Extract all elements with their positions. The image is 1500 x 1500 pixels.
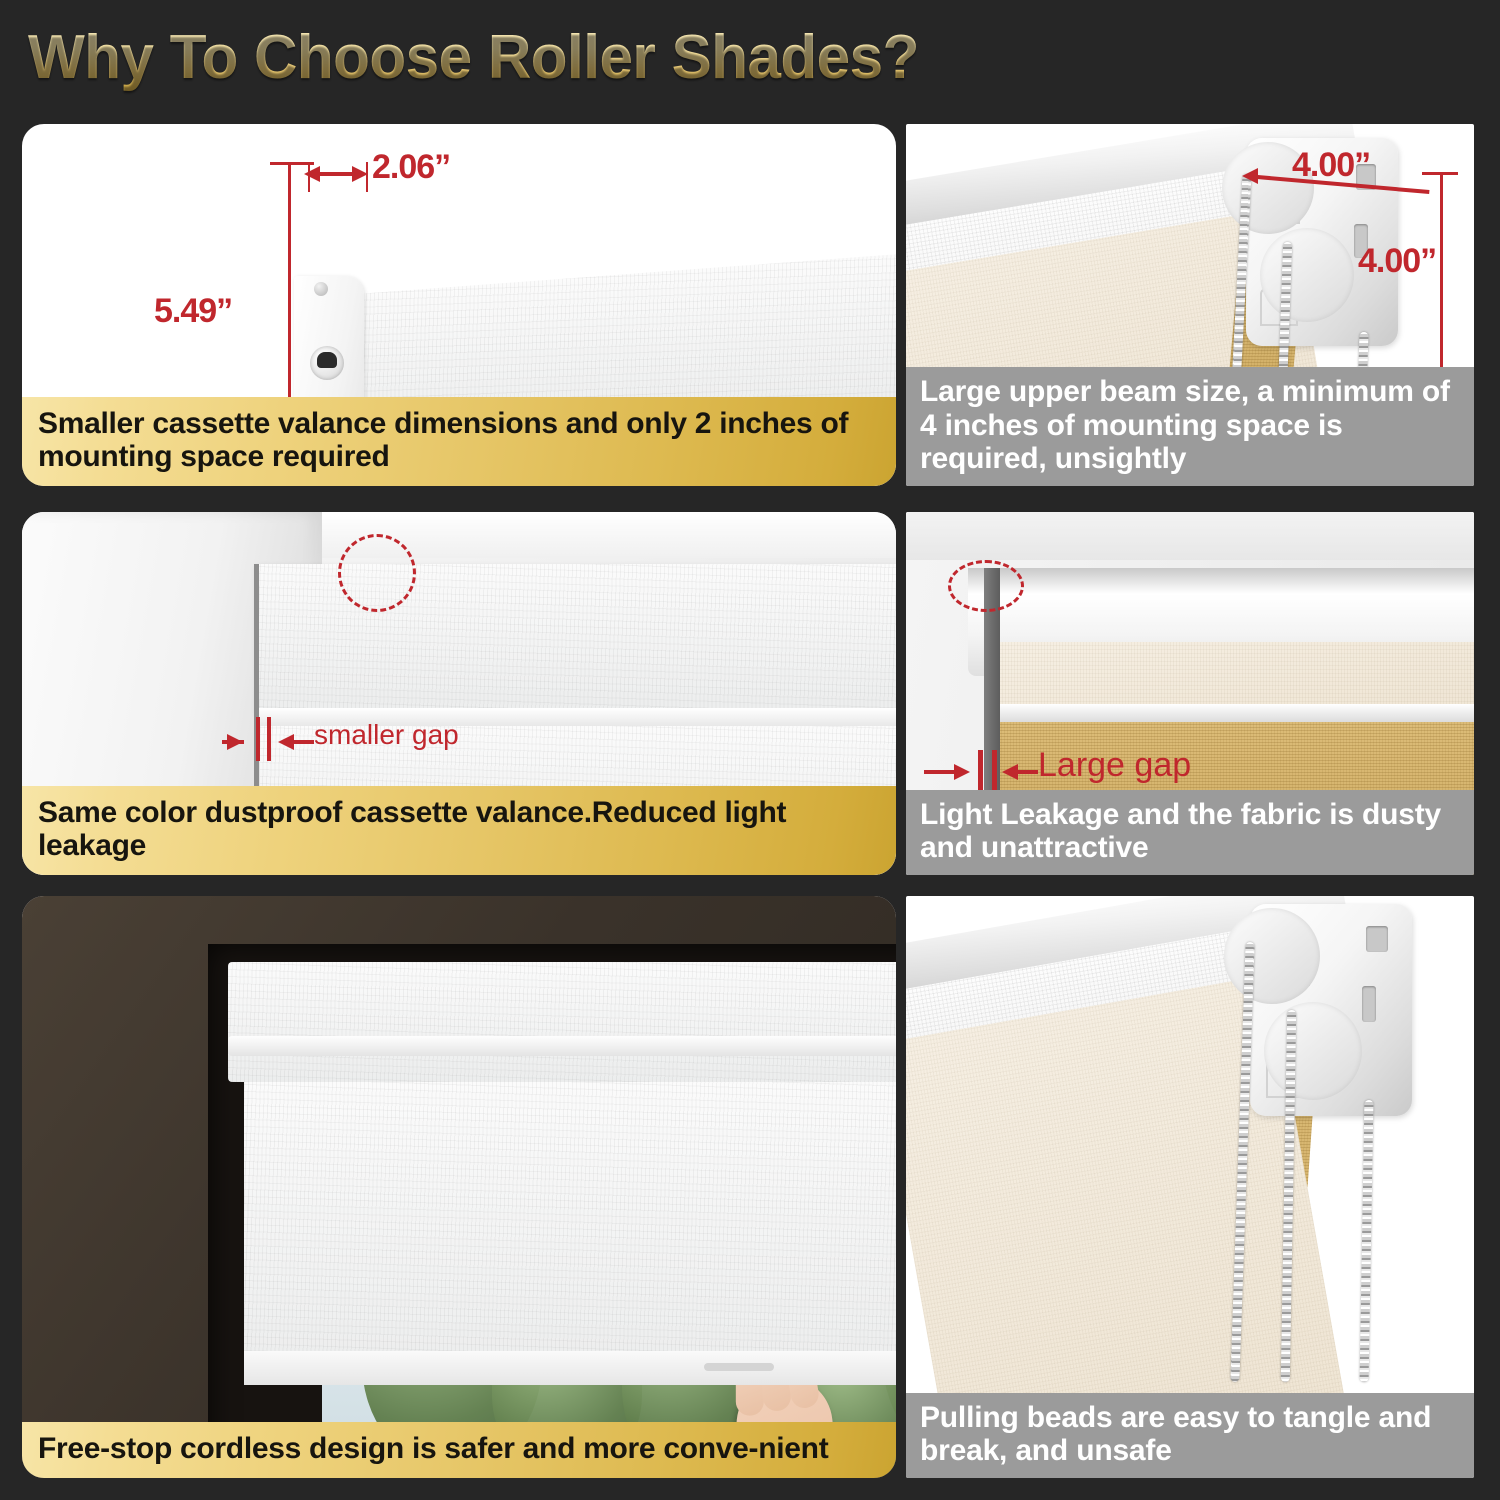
bracket-lobe-upper <box>1224 908 1320 1004</box>
panel-free-stop-cordless-caption: Free-stop cordless design is safer and m… <box>22 1422 896 1478</box>
panel-large-upper-beam: 4.00” 4.00” Large upper beam size, a min… <box>906 124 1474 486</box>
gap-line-left <box>222 740 244 744</box>
panel-pulling-beads: Pulling beads are easy to tangle and bre… <box>906 896 1474 1478</box>
bracket-lobe-lower <box>1264 1002 1362 1100</box>
smaller-gap-label: smaller gap <box>314 719 459 751</box>
bracket-lobe-lower <box>1260 228 1354 322</box>
panel-pulling-beads-image <box>906 896 1474 1478</box>
ceiling-band <box>906 512 1474 560</box>
valance-rail <box>228 1036 896 1056</box>
panel-dustproof-cassette-caption: Same color dustproof cassette valance.Re… <box>22 786 896 875</box>
beam-height-tick-top <box>1422 172 1458 175</box>
gap-marker-b <box>267 717 271 761</box>
bracket-slot-top <box>1366 926 1388 952</box>
width-dim-arrow-right <box>352 166 368 182</box>
infographic-root: Why To Choose Roller Shades? <box>0 0 1500 1500</box>
panel-free-stop-cordless-image <box>22 896 896 1478</box>
width-dimension-label: 2.06” <box>372 148 450 187</box>
gap-line-right <box>292 740 314 744</box>
cassette-knob-icon <box>310 346 344 380</box>
shade-fabric <box>244 1082 896 1372</box>
bottom-rail <box>990 704 1474 722</box>
beam-width-label: 4.00” <box>1292 146 1370 185</box>
beam-height-label: 4.00” <box>1358 242 1436 281</box>
gap-marker-a <box>978 750 983 792</box>
gap-marker-a <box>256 717 260 761</box>
panel-light-leakage-caption: Light Leakage and the fabric is dusty an… <box>906 790 1474 875</box>
highlight-circle <box>338 534 416 612</box>
bottom-bar <box>244 1351 896 1385</box>
beam-width-arrow-left <box>1242 168 1258 184</box>
bead-chain-right <box>1360 1100 1374 1382</box>
bracket-slot-mid <box>1362 986 1376 1022</box>
panel-large-upper-beam-caption: Large upper beam size, a minimum of 4 in… <box>906 367 1474 486</box>
large-gap-label: Large gap <box>1038 746 1191 785</box>
panel-smaller-cassette-caption: Smaller cassette valance dimensions and … <box>22 397 896 486</box>
gap-marker-b <box>992 750 997 792</box>
panel-light-leakage: Large gap Light Leakage and the fabric i… <box>906 512 1474 875</box>
height-dim-tick-top <box>270 162 314 165</box>
panel-pulling-beads-caption: Pulling beads are easy to tangle and bre… <box>906 1393 1474 1478</box>
cream-fabric-strip <box>990 642 1474 710</box>
beam-height-dim-line <box>1440 172 1443 382</box>
width-dim-arrow-left <box>304 166 320 182</box>
highlight-circle <box>948 560 1024 612</box>
gap-line-left <box>924 770 958 774</box>
panel-free-stop-cordless: Free-stop cordless design is safer and m… <box>22 896 896 1478</box>
height-dimension-label: 5.49” <box>154 292 232 331</box>
pull-handle-icon <box>704 1363 774 1371</box>
page-title: Why To Choose Roller Shades? <box>28 22 919 93</box>
panel-dustproof-cassette: smaller gap Same color dustproof cassett… <box>22 512 896 875</box>
gap-line-right <box>1016 770 1038 774</box>
panel-smaller-cassette: 2.06” 5.49” Smaller cassette valance dim… <box>22 124 896 486</box>
screw-top-icon <box>314 282 328 296</box>
cassette-valance <box>228 962 896 1082</box>
